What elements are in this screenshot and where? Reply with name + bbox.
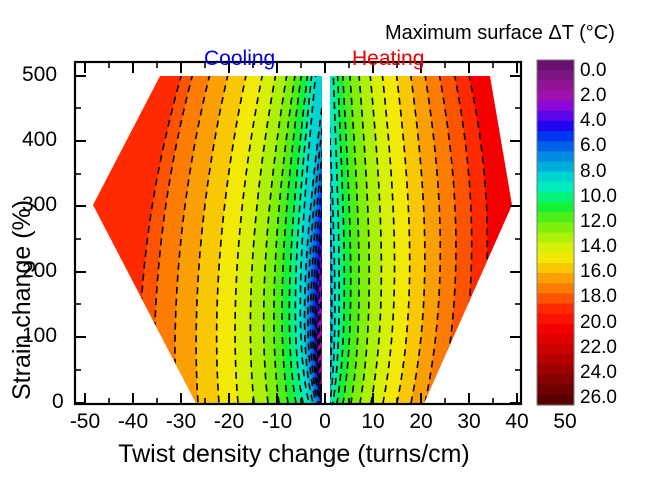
colorbar-swatch	[537, 364, 574, 375]
colorbar-swatch	[537, 354, 574, 365]
colorbar-tick-label: 2.0	[580, 86, 606, 105]
colorbar-swatch	[537, 222, 574, 233]
x-tick-label-0: 0	[306, 410, 344, 434]
colorbar-swatch	[537, 192, 574, 203]
colorbar-swatch	[537, 202, 574, 213]
y-tick-label-0: 0	[52, 390, 64, 414]
colorbar-swatch	[537, 304, 574, 315]
colorbar-swatch	[537, 111, 574, 122]
colorbar-swatch	[537, 172, 574, 183]
colorbar-tick-label: 8.0	[580, 162, 606, 181]
colorbar-tick-label: 20.0	[580, 313, 617, 332]
x-tick-label--40: -40	[114, 410, 152, 434]
colorbar-swatch	[537, 314, 574, 325]
colorbar-tick-label: 0.0	[580, 61, 606, 80]
colorbar-swatch	[537, 385, 574, 396]
colorbar-swatch	[537, 60, 574, 71]
colorbar-tick-label: 24.0	[580, 363, 617, 382]
colorbar-swatch	[537, 395, 574, 406]
x-tick-label-10: 10	[354, 410, 392, 434]
colorbar-tick-label: 18.0	[580, 287, 617, 306]
x-tick-label-20: 20	[402, 410, 440, 434]
colorbar-title: Maximum surface ΔT (°C)	[385, 22, 615, 45]
colorbar-swatch	[537, 253, 574, 264]
colorbar-swatch	[537, 334, 574, 345]
x-tick-label-50: 50	[546, 410, 584, 434]
colorbar-swatch	[537, 70, 574, 81]
colorbar-swatch	[537, 324, 574, 335]
colorbar-tick-label: 12.0	[580, 212, 617, 231]
colorbar-tick-label: 26.0	[580, 388, 617, 407]
colorbar-swatch	[537, 151, 574, 162]
x-tick-label--50: -50	[66, 410, 104, 434]
colorbar-swatch	[537, 293, 574, 304]
colorbar-swatch	[537, 243, 574, 254]
colorbar-swatch	[537, 101, 574, 112]
x-tick-label-40: 40	[498, 410, 536, 434]
colorbar-swatch	[537, 131, 574, 142]
x-tick-label--10: -10	[258, 410, 296, 434]
colorbar-swatch	[537, 161, 574, 172]
colorbar-swatch	[537, 273, 574, 284]
colorbar-tick-label: 16.0	[580, 262, 617, 281]
annotation-heating: Heating	[352, 47, 424, 71]
colorbar-tick-label: 10.0	[580, 187, 617, 206]
y-axis-title: Strain change (%)	[8, 200, 37, 400]
colorbar-swatch	[537, 182, 574, 193]
x-axis-title: Twist density change (turns/cm)	[64, 440, 524, 469]
colorbar-tick-label: 6.0	[580, 136, 606, 155]
annotation-cooling: Cooling	[204, 47, 275, 71]
colorbar-swatch	[537, 375, 574, 386]
colorbar-swatch	[537, 212, 574, 223]
colorbar-swatch	[537, 283, 574, 294]
colorbar	[537, 60, 574, 406]
figure-canvas: 500 400 300 200 100 0 -50 -40 -30 -20 -1…	[0, 0, 650, 478]
y-tick-label-500: 500	[22, 63, 57, 87]
x-tick-label-30: 30	[450, 410, 488, 434]
colorbar-swatch	[537, 344, 574, 355]
colorbar-swatch	[537, 90, 574, 101]
colorbar-tick-label: 22.0	[580, 338, 617, 357]
contour-plot-svg	[0, 0, 650, 478]
zero-axis-gap	[322, 62, 329, 404]
x-tick-label--30: -30	[162, 410, 200, 434]
y-tick-label-400: 400	[22, 128, 57, 152]
colorbar-tick-label: 14.0	[580, 237, 617, 256]
colorbar-swatch	[537, 121, 574, 132]
x-tick-label--20: -20	[210, 410, 248, 434]
colorbar-swatch	[537, 141, 574, 152]
colorbar-swatch	[537, 80, 574, 91]
colorbar-tick-label: 4.0	[580, 111, 606, 130]
colorbar-swatch	[537, 233, 574, 244]
colorbar-swatch	[537, 263, 574, 274]
